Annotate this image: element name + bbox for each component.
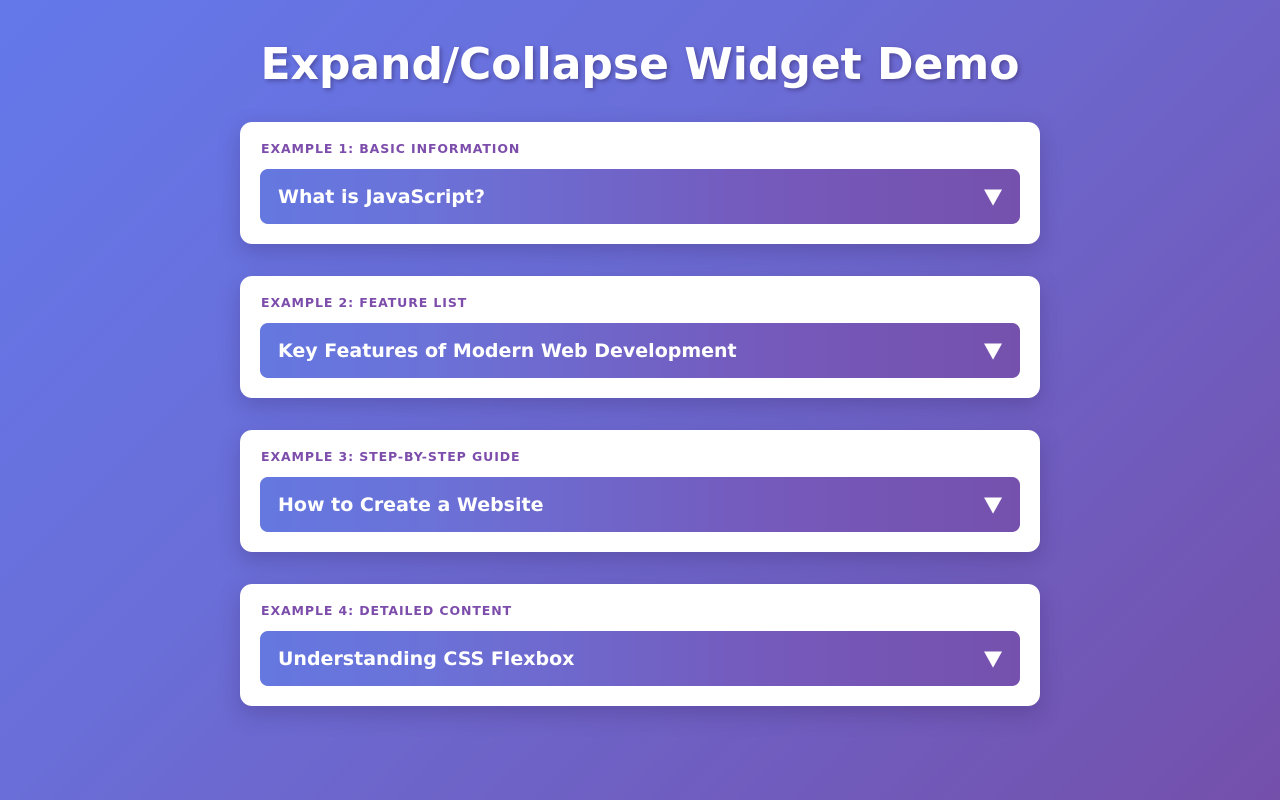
accordion-card: EXAMPLE 4: DETAILED CONTENT Understandin…: [240, 584, 1040, 706]
accordion-card-label: EXAMPLE 4: DETAILED CONTENT: [261, 603, 1020, 619]
accordion-card-label: EXAMPLE 1: BASIC INFORMATION: [261, 141, 1020, 157]
accordion-header-toggle[interactable]: Understanding CSS Flexbox ▼: [260, 631, 1020, 686]
chevron-down-icon[interactable]: ▼: [984, 648, 1002, 669]
accordion-card-label: EXAMPLE 2: FEATURE LIST: [261, 295, 1020, 311]
accordion-card-label: EXAMPLE 3: STEP-BY-STEP GUIDE: [261, 449, 1020, 465]
accordion-list: EXAMPLE 1: BASIC INFORMATION What is Jav…: [240, 92, 1040, 706]
accordion-header-title: What is JavaScript?: [278, 185, 485, 209]
page-title: Expand/Collapse Widget Demo: [0, 0, 1280, 92]
chevron-down-icon[interactable]: ▼: [984, 494, 1002, 515]
chevron-down-icon[interactable]: ▼: [984, 340, 1002, 361]
accordion-header-toggle[interactable]: What is JavaScript? ▼: [260, 169, 1020, 224]
accordion-header-toggle[interactable]: How to Create a Website ▼: [260, 477, 1020, 532]
accordion-header-toggle[interactable]: Key Features of Modern Web Development ▼: [260, 323, 1020, 378]
page-root: Expand/Collapse Widget Demo EXAMPLE 1: B…: [0, 0, 1280, 800]
accordion-header-title: How to Create a Website: [278, 493, 543, 517]
accordion-card: EXAMPLE 2: FEATURE LIST Key Features of …: [240, 276, 1040, 398]
accordion-card: EXAMPLE 3: STEP-BY-STEP GUIDE How to Cre…: [240, 430, 1040, 552]
accordion-header-title: Key Features of Modern Web Development: [278, 339, 737, 363]
accordion-header-title: Understanding CSS Flexbox: [278, 647, 574, 671]
accordion-card: EXAMPLE 1: BASIC INFORMATION What is Jav…: [240, 122, 1040, 244]
chevron-down-icon[interactable]: ▼: [984, 186, 1002, 207]
